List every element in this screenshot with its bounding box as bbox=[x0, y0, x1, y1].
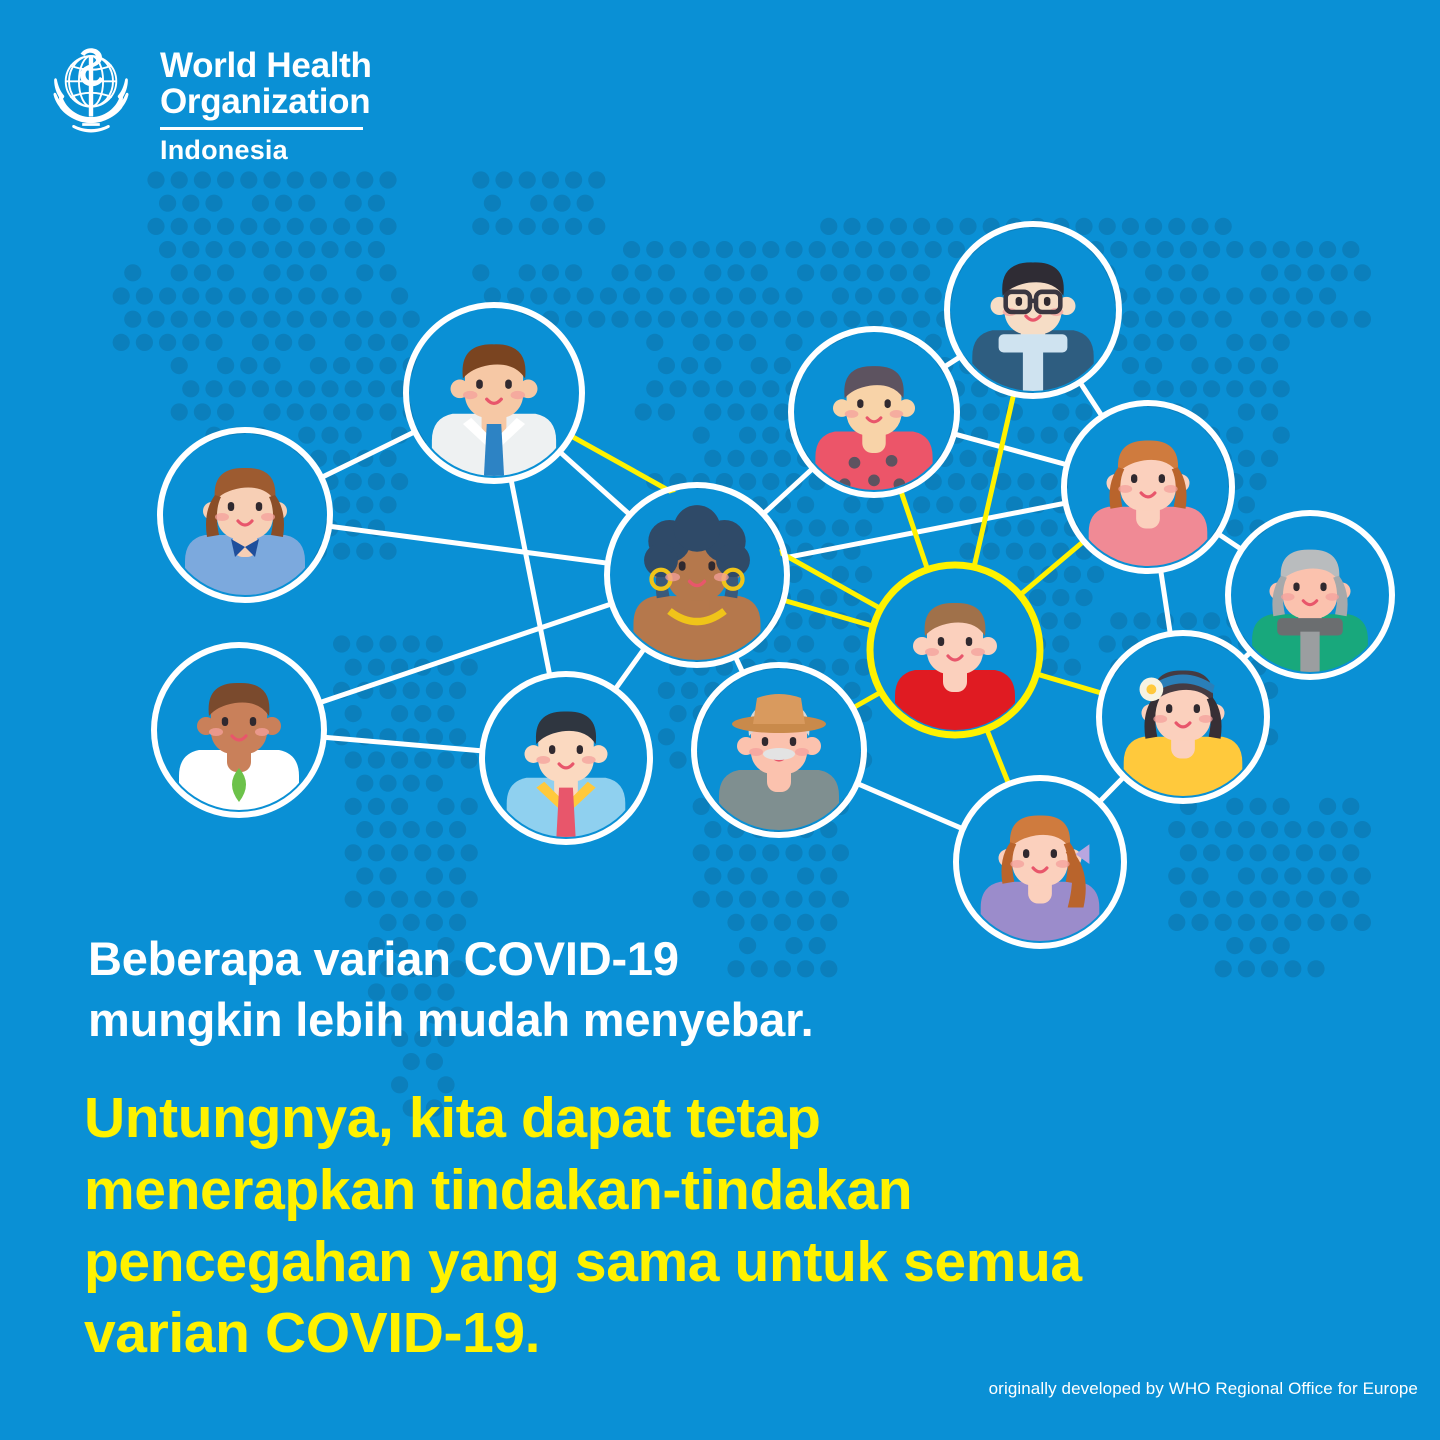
avatar-hair-puff bbox=[674, 505, 721, 552]
avatar-boy-red-shirt-highlighted[interactable] bbox=[870, 565, 1040, 735]
avatar-eye bbox=[1051, 849, 1057, 858]
network-link bbox=[765, 470, 810, 512]
avatar-cheek bbox=[1118, 485, 1132, 493]
credit-line: originally developed by WHO Regional Off… bbox=[989, 1379, 1418, 1399]
avatar-eye bbox=[222, 717, 228, 726]
who-emblem-icon bbox=[36, 34, 146, 144]
network-link bbox=[1039, 675, 1099, 693]
avatar-schoolgirl-blue-uniform[interactable] bbox=[160, 430, 330, 600]
network-nodes bbox=[154, 224, 1392, 946]
network-link bbox=[737, 659, 742, 670]
network-link bbox=[1022, 543, 1081, 593]
avatar-eye bbox=[679, 561, 686, 571]
network-link bbox=[860, 785, 960, 828]
polka-dot bbox=[886, 455, 898, 467]
avatar-cheek bbox=[749, 748, 763, 756]
network-link bbox=[1161, 573, 1170, 631]
who-logo: World Health Organization Indonesia bbox=[36, 34, 372, 164]
avatar-woman-pink-top[interactable] bbox=[1064, 403, 1232, 571]
network-link bbox=[975, 397, 1013, 565]
avatar-man-glasses-scarf[interactable] bbox=[947, 224, 1119, 399]
polka-dot bbox=[849, 457, 861, 469]
avatar-boy-school-sweater[interactable] bbox=[482, 674, 650, 842]
network-link bbox=[327, 738, 480, 751]
necktie-icon bbox=[484, 424, 505, 481]
avatar-cheek bbox=[925, 648, 939, 656]
avatar-girl-ponytail-purple[interactable] bbox=[956, 778, 1124, 946]
avatar-cheek bbox=[1325, 593, 1339, 601]
network-link bbox=[1101, 779, 1122, 800]
avatar-woman-afro-gold-earrings[interactable] bbox=[607, 485, 787, 665]
avatar-cheek bbox=[1164, 485, 1178, 493]
avatar-cheek bbox=[463, 391, 477, 399]
avatar-eye bbox=[708, 561, 715, 571]
network-link bbox=[856, 694, 879, 707]
avatar-eye bbox=[857, 399, 863, 408]
avatar-cheek bbox=[511, 391, 525, 399]
avatar-businessman-blue-tie[interactable] bbox=[406, 305, 582, 481]
avatar-girl-flower-yellow-top[interactable] bbox=[1099, 633, 1267, 801]
network-link bbox=[788, 504, 1062, 558]
who-logo-title: World Health Organization bbox=[160, 48, 372, 119]
who-logo-divider bbox=[160, 127, 363, 130]
network-link bbox=[1220, 535, 1239, 548]
who-logo-country: Indonesia bbox=[160, 137, 372, 164]
necktie-icon bbox=[556, 788, 576, 842]
network-link bbox=[1246, 654, 1249, 657]
network-link bbox=[324, 433, 412, 476]
avatar-cheek bbox=[215, 513, 229, 521]
avatar-eye bbox=[505, 380, 512, 389]
flower-center-icon bbox=[1146, 684, 1156, 694]
who-logo-text: World Health Organization Indonesia bbox=[160, 48, 372, 164]
avatar-man-green-leaf-shirt[interactable] bbox=[154, 645, 324, 815]
avatar-eye bbox=[938, 637, 944, 646]
avatar-eye bbox=[1159, 474, 1165, 483]
avatar-eye bbox=[1194, 704, 1200, 713]
avatar-eye bbox=[966, 637, 972, 646]
network-link bbox=[786, 601, 870, 625]
network-link bbox=[512, 482, 550, 672]
avatar-cheek bbox=[890, 410, 904, 418]
avatar-eye bbox=[228, 502, 234, 511]
mustache-icon bbox=[763, 748, 795, 760]
avatar-cheek bbox=[536, 756, 550, 764]
avatar-hair-puff bbox=[644, 543, 678, 577]
avatar-eye bbox=[250, 717, 256, 726]
avatar-hair-puff bbox=[716, 543, 750, 577]
avatar-eye bbox=[762, 737, 768, 746]
avatar-cheek bbox=[1199, 715, 1213, 723]
avatar-cheek bbox=[255, 728, 269, 736]
avatar-eye bbox=[256, 502, 262, 511]
avatar-cheek bbox=[665, 573, 680, 581]
avatar-cheek bbox=[209, 728, 223, 736]
avatar-cheek bbox=[1056, 860, 1070, 868]
avatar-eye bbox=[577, 745, 583, 754]
avatar-elder-hat-mustache[interactable] bbox=[694, 665, 864, 835]
avatar-eye bbox=[1320, 582, 1326, 591]
subheadline-text: Untungnya, kita dapat tetap menerapkan t… bbox=[84, 1083, 1374, 1370]
network-link bbox=[957, 435, 1064, 464]
avatar-eye bbox=[790, 737, 796, 746]
avatar-eye bbox=[549, 745, 555, 754]
polka-dot bbox=[868, 474, 880, 486]
avatar-eye bbox=[1023, 849, 1029, 858]
network-link bbox=[988, 732, 1008, 782]
avatar-eye bbox=[1016, 297, 1022, 306]
network-link bbox=[1082, 385, 1101, 414]
avatar-cheek bbox=[1153, 715, 1167, 723]
poster-canvas: World Health Organization Indonesia Bebe… bbox=[0, 0, 1440, 1440]
avatar-elder-green-scarf[interactable] bbox=[1228, 513, 1392, 680]
avatar-cheek bbox=[261, 513, 275, 521]
network-link bbox=[617, 651, 643, 688]
avatar-cheek bbox=[1281, 593, 1295, 601]
avatar-cheek bbox=[714, 573, 729, 581]
hat-crown-icon bbox=[753, 694, 805, 724]
avatar-cheek bbox=[1010, 860, 1024, 868]
avatar-eye bbox=[1293, 582, 1299, 591]
avatar-eye bbox=[1044, 297, 1050, 306]
avatar-figure bbox=[633, 505, 760, 665]
avatar-eye bbox=[476, 380, 483, 389]
avatar-eye bbox=[1166, 704, 1172, 713]
avatar-cheek bbox=[845, 410, 859, 418]
avatar-boy-polkadot-red-top[interactable] bbox=[791, 329, 957, 495]
avatar-eye bbox=[1131, 474, 1137, 483]
avatar-cheek bbox=[582, 756, 596, 764]
avatar-eye bbox=[885, 399, 891, 408]
network-link bbox=[332, 527, 605, 563]
avatar-cheek bbox=[795, 748, 809, 756]
network-link bbox=[946, 358, 958, 366]
avatar-cheek bbox=[971, 648, 985, 656]
headline-text: Beberapa varian COVID-19 mungkin lebih m… bbox=[88, 928, 1088, 1050]
